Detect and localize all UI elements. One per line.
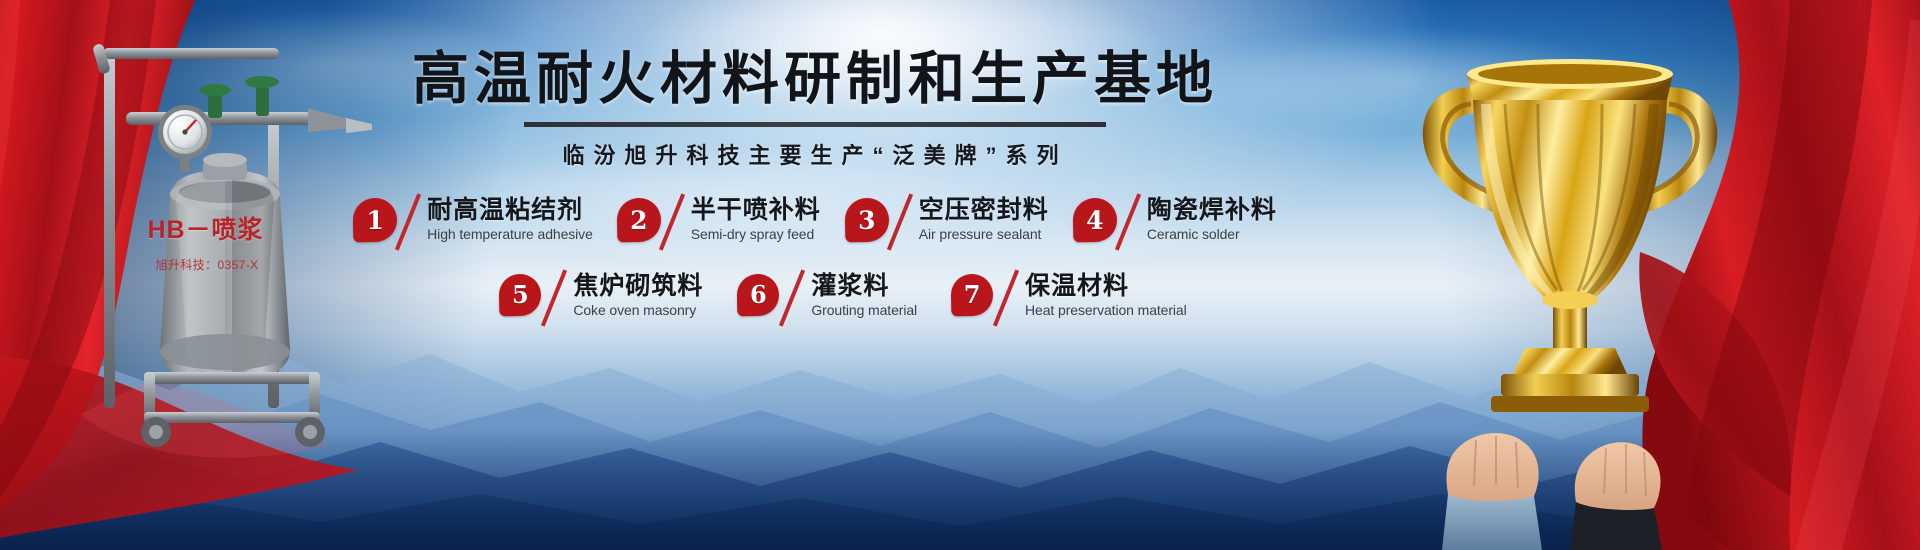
badge-number: 5 [499, 274, 541, 316]
slash-divider-icon [659, 196, 687, 252]
feature-texts: 焦炉砌筑料 Coke oven masonry [573, 272, 703, 319]
slash-divider-icon [541, 272, 569, 328]
feature-texts: 灌浆料 Grouting material [811, 272, 917, 319]
slash-divider-icon [395, 196, 423, 252]
feature-title-zh: 灌浆料 [811, 272, 917, 300]
badge-number: 1 [353, 198, 397, 242]
number-badge: 5 [499, 274, 545, 324]
feature-item[interactable]: 1 耐高温粘结剂 High temperature adhesive [353, 196, 593, 252]
feature-texts: 耐高温粘结剂 High temperature adhesive [427, 196, 593, 243]
feature-texts: 陶瓷焊补料 Ceramic solder [1147, 196, 1277, 243]
number-badge: 3 [845, 198, 891, 248]
hands-illustration [1430, 410, 1710, 550]
product-label: HB－喷浆 [118, 210, 293, 246]
feature-item[interactable]: 2 半干喷补料 Semi-dry spray feed [617, 196, 821, 252]
number-badge: 4 [1073, 198, 1119, 248]
feature-title-zh: 空压密封料 [919, 196, 1049, 224]
subtitle: 临汾旭升科技主要生产“泛美牌”系列 [400, 138, 1230, 170]
number-badge: 1 [353, 198, 399, 248]
feature-texts: 半干喷补料 Semi-dry spray feed [691, 196, 821, 243]
badge-number: 7 [951, 274, 993, 316]
badge-number: 4 [1073, 198, 1117, 242]
feature-title-zh: 半干喷补料 [691, 196, 821, 224]
feature-title-zh: 焦炉砌筑料 [573, 272, 703, 300]
slash-divider-icon [887, 196, 915, 252]
feature-title-en: Ceramic solder [1147, 226, 1277, 243]
product-sub-label: 旭升科技：0357-X [112, 256, 302, 273]
slash-divider-icon [1115, 196, 1143, 252]
feature-texts: 保温材料 Heat preservation material [1025, 272, 1187, 319]
feature-title-en: Coke oven masonry [573, 302, 703, 319]
feature-item[interactable]: 3 空压密封料 Air pressure sealant [845, 196, 1049, 252]
number-badge: 7 [951, 274, 997, 324]
feature-item[interactable]: 4 陶瓷焊补料 Ceramic solder [1073, 196, 1277, 252]
feature-title-en: High temperature adhesive [427, 226, 593, 243]
feature-title-zh: 耐高温粘结剂 [427, 196, 593, 224]
page-title: 高温耐火材料研制和生产基地 [400, 48, 1230, 110]
badge-number: 3 [845, 198, 889, 242]
title-divider [524, 122, 1106, 127]
number-badge: 2 [617, 198, 663, 248]
promo-banner: HB－喷浆 旭升科技：0357-X [0, 0, 1920, 550]
badge-number: 6 [737, 274, 779, 316]
slash-divider-icon [993, 272, 1021, 328]
feature-row-1: 1 耐高温粘结剂 High temperature adhesive 2 半干喷… [400, 196, 1230, 252]
gold-trophy-illustration [1405, 18, 1735, 438]
feature-item[interactable]: 6 灌浆料 Grouting material [737, 272, 917, 328]
feature-item[interactable]: 7 保温材料 Heat preservation material [951, 272, 1187, 328]
feature-list: 1 耐高温粘结剂 High temperature adhesive 2 半干喷… [400, 196, 1230, 328]
headline-block: 高温耐火材料研制和生产基地 临汾旭升科技主要生产“泛美牌”系列 [400, 48, 1230, 170]
number-badge: 6 [737, 274, 783, 324]
feature-texts: 空压密封料 Air pressure sealant [919, 196, 1049, 243]
slash-divider-icon [779, 272, 807, 328]
feature-title-zh: 保温材料 [1025, 272, 1187, 300]
feature-title-en: Semi-dry spray feed [691, 226, 821, 243]
feature-row-2: 5 焦炉砌筑料 Coke oven masonry 6 灌浆料 Grouting… [400, 272, 1230, 328]
feature-title-en: Air pressure sealant [919, 226, 1049, 243]
feature-title-en: Grouting material [811, 302, 917, 319]
feature-title-zh: 陶瓷焊补料 [1147, 196, 1277, 224]
feature-title-en: Heat preservation material [1025, 302, 1187, 319]
badge-number: 2 [617, 198, 661, 242]
feature-item[interactable]: 5 焦炉砌筑料 Coke oven masonry [499, 272, 703, 328]
